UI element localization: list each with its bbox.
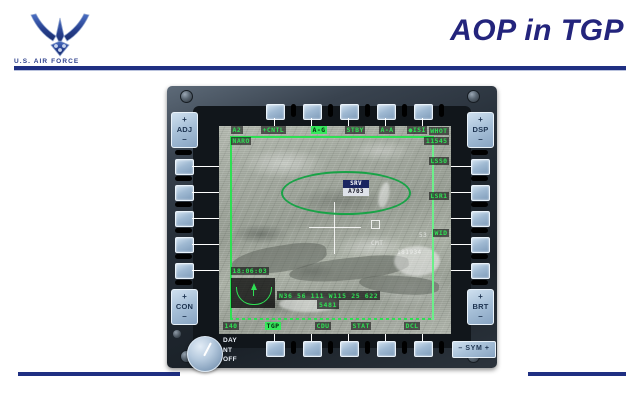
chassis-screw-icon [180, 90, 193, 103]
slide-header: U.S. AIR FORCE AOP in TGP [0, 0, 640, 72]
sym-button[interactable]: – SYM + [452, 341, 496, 358]
target-square-marker [371, 220, 380, 229]
faint-marker-cmt: CMT [371, 240, 383, 247]
top-bezel-separator [291, 104, 296, 117]
page-title: AOP in TGP [450, 14, 624, 48]
top-bezel-button-5[interactable] [414, 104, 433, 120]
brt-plus-label: + [468, 293, 493, 301]
left-bezel-separator [175, 228, 192, 233]
bezel-leader-line [192, 192, 219, 193]
left-bezel-separator [175, 176, 192, 181]
top-bezel-button-1[interactable] [266, 104, 285, 120]
right-bezel-separator [471, 202, 488, 207]
callout-a703-label: A703 [343, 188, 369, 196]
left-bezel-separator [175, 202, 192, 207]
rotary-label-nt: NT [223, 346, 237, 356]
right-bezel-separator [471, 150, 488, 155]
top-bezel-separator [365, 104, 370, 117]
rotary-label-off: OFF [223, 355, 237, 365]
top-bezel-button-2[interactable] [303, 104, 322, 120]
nav-compass-widget [231, 278, 275, 308]
top-bezel-separator [328, 104, 333, 117]
top-bezel-separator [439, 104, 444, 117]
bottom-bezel-separator [328, 341, 333, 354]
right-bezel-separator [471, 228, 488, 233]
hud-frame-top [230, 136, 434, 138]
hud-right-label-wid[interactable]: WID [433, 229, 449, 237]
right-bezel-button-5[interactable] [471, 263, 490, 279]
con-knob-button[interactable]: + CON – [171, 289, 198, 325]
dsp-knob-button[interactable]: + DSP – [467, 112, 494, 148]
aop-target-callout: SRV A703 [343, 180, 369, 196]
hud-bottom-label-cdu[interactable]: CDU [315, 322, 331, 330]
compass-pointer-icon [251, 283, 257, 290]
left-bezel-button-3[interactable] [175, 211, 194, 227]
chassis-screw-icon [173, 330, 181, 338]
right-bezel-button-1[interactable] [471, 159, 490, 175]
footer-divider-right [528, 372, 626, 376]
right-bezel-separator [471, 254, 488, 259]
right-bezel-button-2[interactable] [471, 185, 490, 201]
left-bezel-button-1[interactable] [175, 159, 194, 175]
faint-marker-181934: 181934 [397, 249, 422, 256]
hud-altitude: 5481 [317, 300, 339, 309]
hud-bottom-label-tgp[interactable]: TGP [265, 322, 281, 330]
left-bezel-separator [175, 254, 192, 259]
right-bezel-button-4[interactable] [471, 237, 490, 253]
callout-srv-label: SRV [343, 180, 369, 188]
adj-plus-label: + [172, 116, 197, 124]
us-air-force-logo [22, 10, 98, 62]
con-plus-label: + [172, 293, 197, 301]
hud-top-label-stby[interactable]: STBY [345, 126, 365, 134]
hud-overlay: A2 +CNTL A-G STBY A-A ●ISI NARO WHOT 115… [219, 126, 451, 334]
bezel-leader-line [192, 244, 219, 245]
bottom-bezel-button-4[interactable] [377, 341, 396, 357]
multifunction-display: + ADJ – + CON – + DSP – + BRT – [167, 86, 497, 376]
hud-bottom-label-stat[interactable]: STAT [351, 322, 371, 330]
bezel-leader-line [192, 166, 219, 167]
hud-top-label-ag[interactable]: A-G [311, 126, 327, 134]
hud-right-label-lss0[interactable]: LSS0 [429, 157, 449, 165]
left-bezel-button-5[interactable] [175, 263, 194, 279]
left-bezel-separator [175, 280, 192, 285]
brt-label: BRT [468, 303, 493, 311]
adj-knob-button[interactable]: + ADJ – [171, 112, 198, 148]
header-divider-shadow [14, 70, 626, 71]
hud-bottom-label-dcl[interactable]: DCL [404, 322, 420, 330]
bottom-bezel-button-1[interactable] [266, 341, 285, 357]
con-minus-label: – [172, 313, 197, 321]
right-bezel-separator [471, 176, 488, 181]
brt-knob-button[interactable]: + BRT – [467, 289, 494, 325]
hud-right-label-11545: 11545 [424, 137, 449, 145]
bezel-leader-line [192, 270, 219, 271]
bottom-bezel-separator [291, 341, 296, 354]
dsp-minus-label: – [468, 136, 493, 144]
hud-right-label-lsr1[interactable]: LSR1 [429, 192, 449, 200]
faint-marker-53: 53 [419, 232, 427, 239]
hud-top-label-isi[interactable]: ●ISI [407, 126, 427, 134]
left-bezel-button-2[interactable] [175, 185, 194, 201]
top-bezel-separator [402, 104, 407, 117]
top-bezel-button-3[interactable] [340, 104, 359, 120]
usaf-wordmark: U.S. AIR FORCE [14, 58, 79, 65]
hud-top-label-aa[interactable]: A-A [379, 126, 395, 134]
right-bezel-separator [471, 280, 488, 285]
rotary-label-day: DAY [223, 336, 237, 346]
adj-minus-label: – [172, 136, 197, 144]
right-bezel-button-3[interactable] [471, 211, 490, 227]
hud-frame-bottom [230, 318, 434, 320]
footer-divider-left [18, 372, 180, 376]
hud-right-label-whot[interactable]: WHOT [429, 127, 449, 135]
hud-time-readout: 18:06:03 [231, 267, 269, 275]
top-bezel-button-4[interactable] [377, 104, 396, 120]
day-night-off-labels: DAY NT OFF [223, 336, 237, 365]
bottom-bezel-separator [402, 341, 407, 354]
hud-top-label-cntl[interactable]: +CNTL [261, 126, 286, 134]
bezel-leader-line [192, 218, 219, 219]
bottom-bezel-button-2[interactable] [303, 341, 322, 357]
hud-coordinates: N36 56 111 W115 25 622 [277, 291, 380, 300]
hud-top-label-row: A2 +CNTL A-G STBY A-A ●ISI [227, 126, 443, 135]
chassis-screw-icon [467, 90, 480, 103]
con-label: CON [172, 303, 197, 311]
bottom-bezel-button-5[interactable] [414, 341, 433, 357]
adj-label: ADJ [172, 126, 197, 134]
bottom-bezel-button-3[interactable] [340, 341, 359, 357]
hud-top-label-a2[interactable]: A2 [231, 126, 243, 134]
hud-bottom-label-140[interactable]: 140 [223, 322, 239, 330]
hud-left-label-naro[interactable]: NARO [231, 137, 251, 145]
bottom-bezel-separator [365, 341, 370, 354]
dsp-label: DSP [468, 126, 493, 134]
bottom-bezel-separator [439, 341, 444, 354]
dsp-plus-label: + [468, 116, 493, 124]
left-bezel-separator [175, 150, 192, 155]
mfd-video-screen[interactable]: A2 +CNTL A-G STBY A-A ●ISI NARO WHOT 115… [219, 126, 451, 334]
compass-stem-icon [253, 289, 254, 296]
brt-minus-label: – [468, 313, 493, 321]
crosshair-horizontal [309, 227, 361, 228]
left-bezel-button-4[interactable] [175, 237, 194, 253]
